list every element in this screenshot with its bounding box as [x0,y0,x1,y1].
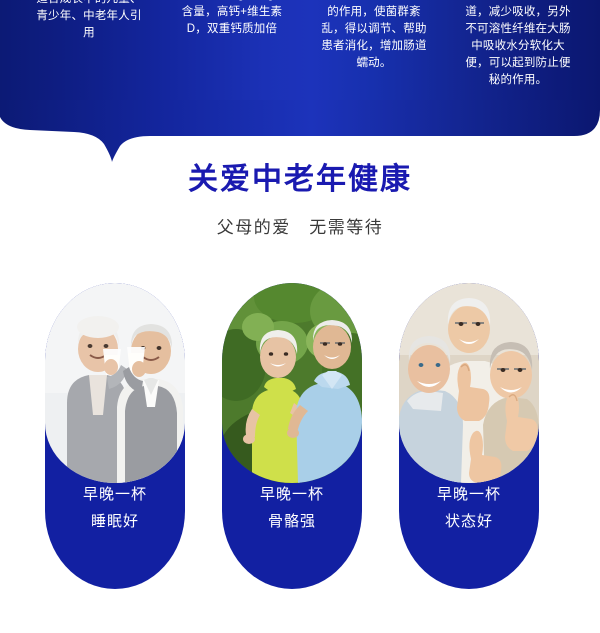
benefit-card-caption-line1: 早晚一杯 [222,481,362,508]
benefit-card-bones[interactable]: 早晚一杯 骨骼强 [222,283,362,589]
elderly-couple-drinking-milk-photo [45,283,185,483]
header-blue-band: ，能高效抵抗病毒，适合成长中的儿童、青少年、中老年人引用 高达1000mg/10… [0,0,600,136]
benefit-card-caption-line2: 状态好 [399,508,539,535]
benefit-card-caption: 早晚一杯 睡眠好 [45,481,185,535]
title-block: 关爱中老年健康 父母的爱 无需等待 [0,160,600,240]
benefit-card-caption-line1: 早晚一杯 [399,481,539,508]
page-subtitle: 父母的爱 无需等待 [0,216,600,240]
header-text-column-1: ，能高效抵抗病毒，适合成长中的儿童、青少年、中老年人引用 [34,0,144,42]
elderly-people-thumbs-up-photo [399,283,539,483]
benefit-card-mood[interactable]: 早晚一杯 状态好 [399,283,539,589]
benefit-card-caption: 早晚一杯 状态好 [399,481,539,535]
header-text-column-3: 可以增加肠道益生菌的作用，使菌群紊乱，得以调节、帮助患者消化，增加肠道蠕动。 [318,0,430,72]
header-text-column-4: 加快食物通过胃肠道，减少吸收，另外不可溶性纤维在大肠中吸收水分软化大便，可以起到… [462,0,574,89]
benefit-card-sleep[interactable]: 早晚一杯 睡眠好 [45,283,185,589]
benefit-card-caption-line2: 骨骼强 [222,508,362,535]
header-text-column-2: 高达1000mg/100g的含量，高钙+维生素D，双重钙质加倍 [176,0,288,38]
benefit-card-caption-line2: 睡眠好 [45,508,185,535]
benefit-cards-row: 早晚一杯 睡眠好 [0,283,600,589]
benefit-card-caption-line1: 早晚一杯 [45,481,185,508]
page-title: 关爱中老年健康 [0,160,600,200]
elderly-couple-jogging-photo [222,283,362,483]
benefit-card-caption: 早晚一杯 骨骼强 [222,481,362,535]
